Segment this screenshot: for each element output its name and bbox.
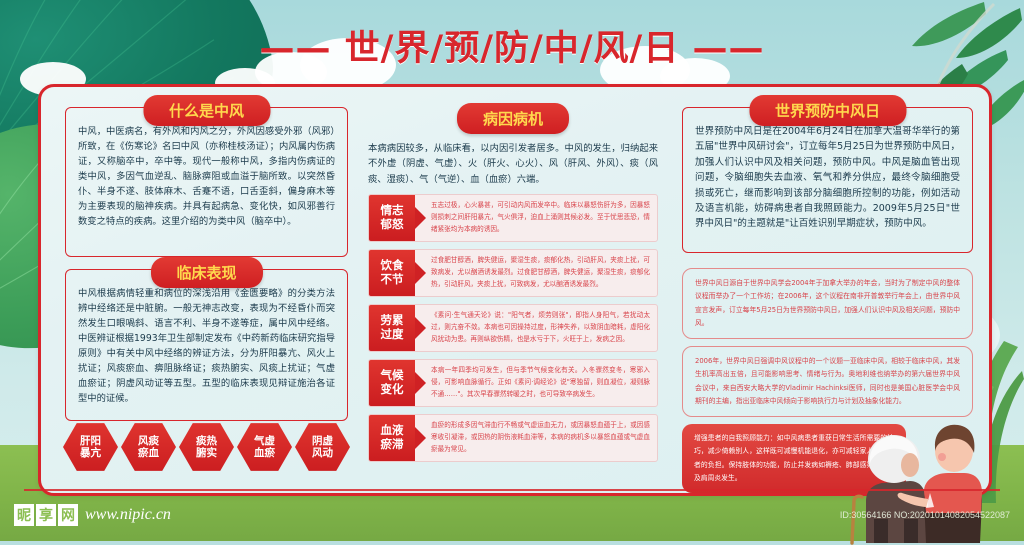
syndrome-type-item[interactable]: 肝阳 暴亢: [63, 421, 118, 473]
card-what-is-stroke: 什么是中风 中风，中医病名，有外风和内风之分，外风因感受外邪（风邪）所致，在《伤…: [65, 107, 348, 257]
syndrome-line-2: 瘀血: [138, 447, 159, 459]
cause-tag: 血液 瘀滞: [369, 415, 415, 461]
left-column: 什么是中风 中风，中医病名，有外风和内风之分，外风因感受外邪（风邪）所致，在《伤…: [51, 97, 354, 483]
cause-tag-line-1: 气候: [381, 369, 404, 383]
cause-tag-line-2: 瘀滞: [381, 438, 404, 452]
syndrome-line-1: 阴虚: [312, 435, 333, 447]
cause-tag-line-1: 饮食: [381, 259, 404, 273]
heading-what-is-stroke: 什么是中风: [143, 95, 270, 126]
cause-tag: 劳累 过度: [369, 305, 415, 351]
notes-section: 世界中风日源自于世界中风学会2004年于加拿大举办的年会，当时为了制定中风的整体…: [682, 261, 973, 493]
cause-tag-line-1: 劳累: [381, 314, 404, 328]
syndrome-line-2: 腑实: [196, 447, 217, 459]
cause-text: 血瘀的形成多因气滞血行不畅或气虚运血无力，或因暴怒血蕴于上，或因感寒收引凝滞，或…: [415, 415, 657, 461]
heading-etiology: 病因病机: [457, 103, 569, 134]
syndrome-line-2: 风动: [312, 447, 333, 459]
syndrome-type-list: 肝阳 暴亢 风痰 瘀血 痰热 腑实 气虚 血瘀 阴虚 风动: [63, 421, 350, 473]
syndrome-type-item[interactable]: 痰热 腑实: [179, 421, 234, 473]
body-world-stroke-day: 世界预防中风日是在2004年6月24日在加拿大温哥华举行的第五届"世界中风研讨会…: [695, 124, 960, 232]
cause-tag: 饮食 不节: [369, 250, 415, 296]
cause-item: 饮食 不节 过食肥甘醇酒，脾失健运，聚湿生痰，痰郁化热，引动肝风，夹痰上扰，可致…: [368, 249, 658, 297]
syndrome-line-2: 暴亢: [80, 447, 101, 459]
cause-tag-line-1: 情志: [381, 204, 404, 218]
body-etiology-intro: 本病病因较多，从临床看，以内因引发者居多。中风的发生，归纳起来不外虚（阴虚、气虚…: [368, 141, 658, 187]
body-what-is-stroke: 中风，中医病名，有外风和内风之分，外风因感受外邪（风邪）所致，在《伤寒论》名曰中…: [78, 124, 335, 229]
body-clinical-manifestation: 中风根据病情轻重和病位的深浅沿用《金匮要略》的分类方法辨中经络还是中脏腑。一般无…: [78, 286, 335, 406]
note-item-2: 2006年，世界中风日强调中风议程中的一个议题—亚临床中风，相较于临床中风，其发…: [682, 346, 973, 417]
cause-tag: 情志 郁怒: [369, 195, 415, 241]
cause-text: 过食肥甘醇酒，脾失健运，聚湿生痰，痰郁化热，引动肝风，夹痰上扰，可致病发，尤以酗…: [415, 250, 657, 296]
site-url[interactable]: www.nipic.cn: [85, 506, 171, 524]
right-column: 世界预防中风日 世界预防中风日是在2004年6月24日在加拿大温哥华举行的第五届…: [668, 97, 979, 483]
cause-tag-line-2: 不节: [381, 273, 404, 287]
note-item-1: 世界中风日源自于世界中风学会2004年于加拿大举办的年会，当时为了制定中风的整体…: [682, 268, 973, 339]
cause-item: 气候 变化 本病一年四季均可发生，但与季节气候变化有关。入冬骤然变冬，寒邪入侵，…: [368, 359, 658, 407]
page-title-wrapper: —— 世/界/预/防/中/风/日 ——: [0, 20, 1024, 71]
cause-tag-line-1: 血液: [381, 424, 404, 438]
logo-char-3: 网: [58, 504, 78, 526]
page-title: —— 世/界/预/防/中/风/日 ——: [259, 20, 764, 71]
syndrome-line-1: 肝阳: [80, 435, 101, 447]
syndrome-type-item[interactable]: 风痰 瘀血: [121, 421, 176, 473]
heading-world-stroke-day: 世界预防中风日: [749, 95, 906, 126]
card-clinical-manifestation: 临床表现 中风根据病情轻重和病位的深浅沿用《金匮要略》的分类方法辨中经络还是中脏…: [65, 269, 348, 421]
cause-item: 血液 瘀滞 血瘀的形成多因气滞血行不畅或气虚运血无力，或因暴怒血蕴于上，或因感寒…: [368, 414, 658, 462]
asset-id-text: ID:30564166 NO:20201014082054522087: [840, 510, 1010, 520]
footer-top-divider: [24, 489, 1000, 491]
highlight-box: 增强患者的自我照顾能力：如中风病患者重获日常生活所需要的技巧，减少倚赖别人，这样…: [682, 424, 906, 493]
cause-text: 《素问·生气通天论》说："阳气者，烦劳则张"，即指人身阳气，若扰动太过，则亢奋不…: [415, 305, 657, 351]
logo-mark: 昵 享 网: [14, 504, 78, 526]
site-logo[interactable]: 昵 享 网 www.nipic.cn: [14, 504, 171, 526]
cause-tag-line-2: 变化: [381, 383, 404, 397]
syndrome-line-2: 血瘀: [254, 447, 275, 459]
cause-item: 情志 郁怒 五志过极，心火暴甚，可引动内风而发卒中。临床以暴怒伤肝为多，因暴怒则…: [368, 194, 658, 242]
cause-text: 本病一年四季均可发生，但与季节气候变化有关。入冬骤然变冬，寒邪入侵，可影响血脉循…: [415, 360, 657, 406]
cause-tag-line-2: 过度: [381, 328, 404, 342]
cause-tag: 气候 变化: [369, 360, 415, 406]
cause-item: 劳累 过度 《素问·生气通天论》说："阳气者，烦劳则张"，即指人身阳气，若扰动太…: [368, 304, 658, 352]
syndrome-type-item[interactable]: 气虚 血瘀: [237, 421, 292, 473]
cause-tag-line-2: 郁怒: [381, 218, 404, 232]
columns-container: 什么是中风 中风，中医病名，有外风和内风之分，外风因感受外邪（风邪）所致，在《伤…: [41, 87, 989, 493]
middle-column: 病因病机 本病病因较多，从临床看，以内因引发者居多。中风的发生，归纳起来不外虚（…: [360, 97, 662, 483]
card-world-stroke-day: 世界预防中风日 世界预防中风日是在2004年6月24日在加拿大温哥华举行的第五届…: [682, 107, 973, 253]
logo-char-1: 昵: [14, 504, 34, 526]
syndrome-type-item[interactable]: 阴虚 风动: [295, 421, 350, 473]
syndrome-line-1: 痰热: [196, 435, 217, 447]
content-board: 什么是中风 中风，中医病名，有外风和内风之分，外风因感受外邪（风邪）所致，在《伤…: [38, 84, 992, 496]
syndrome-line-1: 气虚: [254, 435, 275, 447]
heading-clinical-manifestation: 临床表现: [150, 257, 262, 288]
cause-text: 五志过极，心火暴甚，可引动内风而发卒中。临床以暴怒伤肝为多，因暴怒则损刺之间肝阳…: [415, 195, 657, 241]
syndrome-line-1: 风痰: [138, 435, 159, 447]
logo-char-2: 享: [36, 504, 56, 526]
etiology-section: 病因病机 本病病因较多，从临床看，以内因引发者居多。中风的发生，归纳起来不外虚（…: [368, 107, 658, 462]
footer-bar: 昵 享 网 www.nipic.cn ID:30564166 NO:202010…: [0, 489, 1024, 541]
